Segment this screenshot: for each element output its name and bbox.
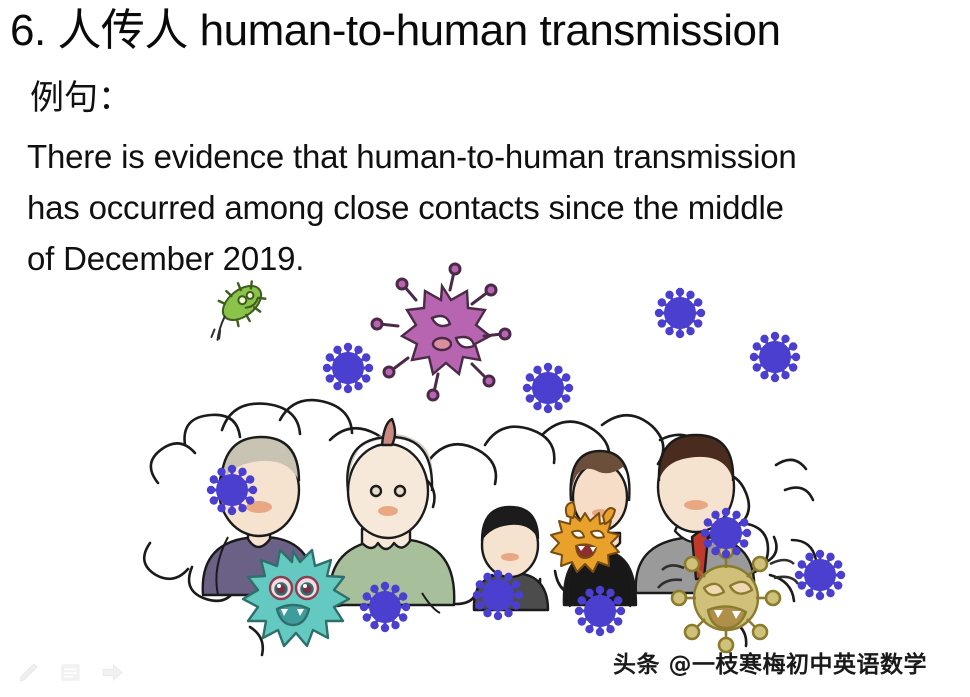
example-label: 例句： — [30, 76, 132, 120]
blue-virus — [524, 364, 572, 412]
pen-icon[interactable] — [16, 660, 41, 685]
blue-virus — [796, 551, 844, 599]
example-line-2: has occurred among close contacts since … — [27, 182, 967, 233]
menu-icon[interactable] — [58, 660, 83, 685]
green-germ — [195, 274, 271, 345]
magenta-germ — [372, 264, 510, 400]
watermark: 头条 @一枝寒梅初中英语数学 — [613, 645, 927, 679]
blue-virus — [324, 344, 372, 392]
next-arrow-icon[interactable] — [100, 660, 125, 685]
term-english: human-to-human transmission — [200, 6, 781, 55]
presentation-controls — [16, 660, 125, 685]
example-sentence: There is evidence that human-to-human tr… — [27, 131, 967, 284]
term-chinese: 人传人 — [57, 5, 188, 56]
slide-number: 6. — [10, 6, 46, 55]
presentation-slide: 6. 人传人 human-to-human transmission 例句： T… — [0, 0, 970, 697]
illustration — [130, 275, 860, 675]
page-title: 6. 人传人 human-to-human transmission — [10, 2, 965, 60]
orange-germ — [551, 502, 619, 572]
blue-virus — [751, 333, 799, 381]
example-line-1: There is evidence that human-to-human tr… — [27, 131, 967, 182]
blue-virus — [656, 289, 704, 337]
